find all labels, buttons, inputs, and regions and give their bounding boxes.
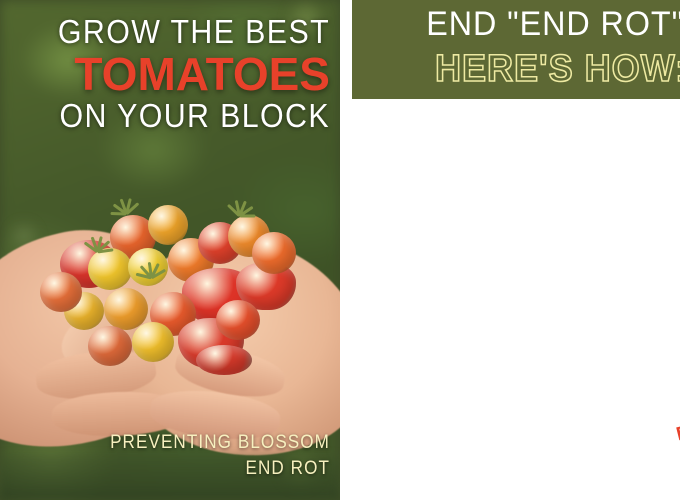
tomato-stem	[240, 215, 256, 218]
band-headline-line-2: HERE'S HOW:	[369, 47, 680, 91]
tomato	[196, 345, 252, 375]
headline-line-1: GROW THE BEST	[26, 14, 330, 50]
tomato	[132, 322, 174, 362]
headline-line-2: TOMATOES	[0, 50, 330, 98]
tomato	[216, 300, 260, 340]
instructions-panel: END "END ROT" HERE'S HOW: 1. REMOVE THE …	[340, 0, 680, 500]
tomato	[104, 288, 148, 330]
caption-line-1: PREVENTING BLOSSOM	[33, 430, 330, 456]
caption-line-2: END ROT	[33, 456, 330, 482]
band-headline-line-1: END "END ROT"	[369, 4, 680, 44]
hands-tomatoes-photo: GROW THE BEST TOMATOES ON YOUR BLOCK PRE…	[0, 0, 340, 500]
photo-caption: PREVENTING BLOSSOM END ROT	[33, 430, 330, 482]
tomato	[88, 248, 132, 290]
infographic-poster: GROW THE BEST TOMATOES ON YOUR BLOCK PRE…	[0, 0, 680, 500]
ask-question-text: DO YOUR TOMATOES LOOK LIKE THIS?	[674, 380, 680, 500]
page-title: GROW THE BEST TOMATOES ON YOUR BLOCK	[0, 14, 330, 134]
tomato	[252, 232, 296, 274]
headline-line-3: ON YOUR BLOCK	[26, 98, 330, 134]
tomato	[40, 272, 82, 312]
ask-line-1: DO YOUR TOMATOES	[674, 380, 680, 470]
tomato	[88, 326, 132, 366]
